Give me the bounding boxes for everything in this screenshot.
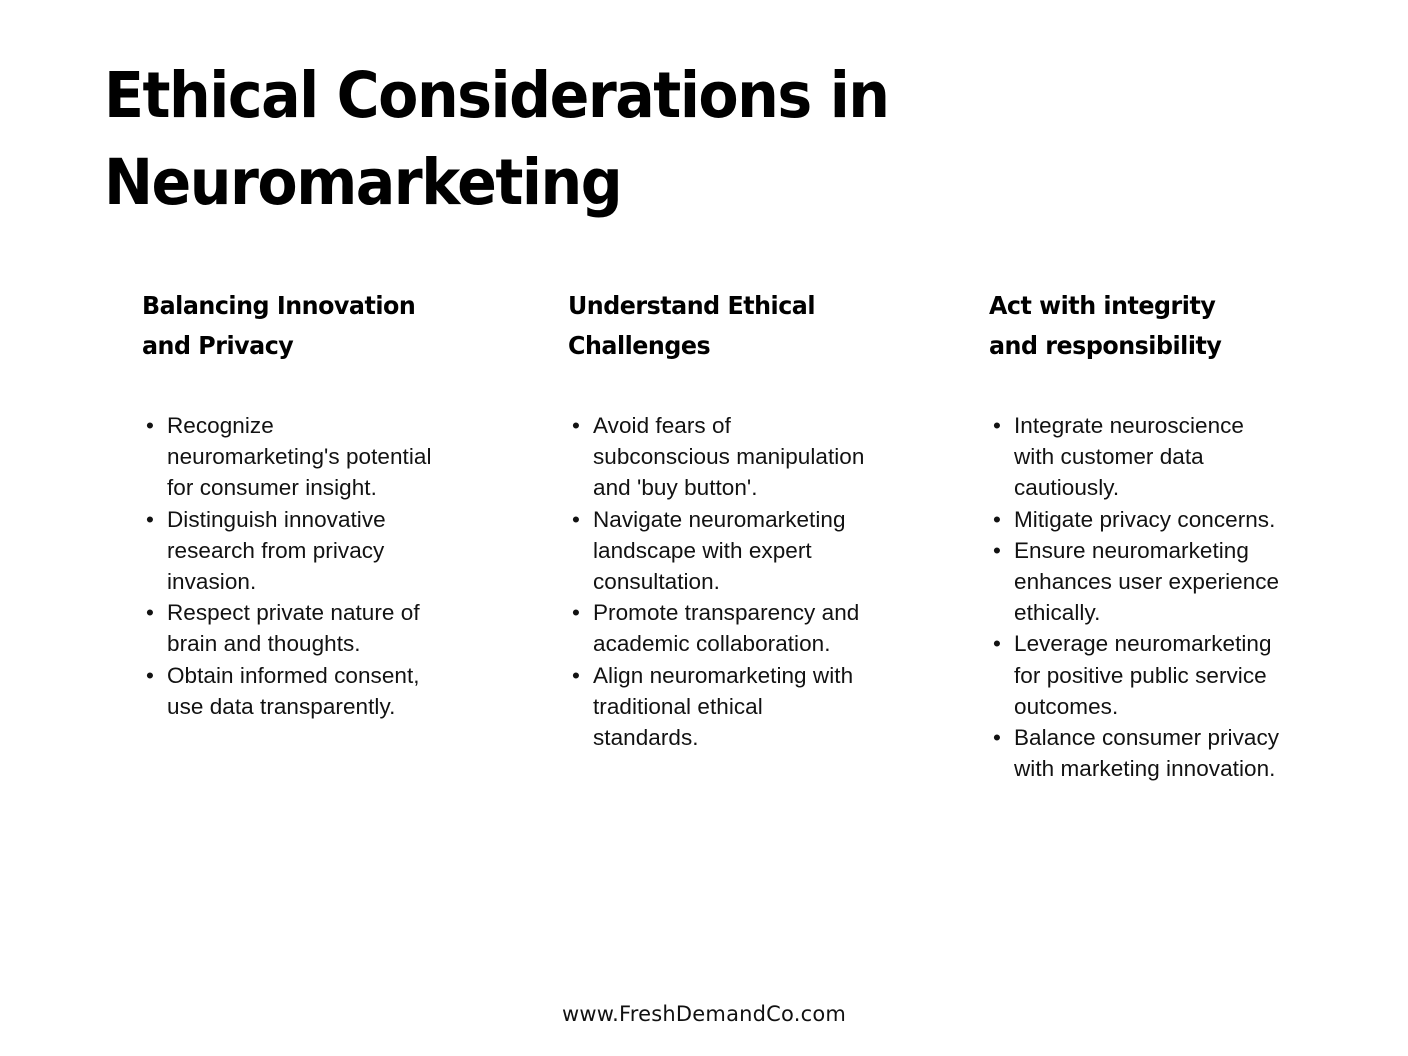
footer: www.FreshDemandCo.com bbox=[0, 1002, 1408, 1026]
bullet-dot-icon: • bbox=[993, 535, 1001, 566]
bullet-dot-icon: • bbox=[993, 628, 1001, 659]
bullet-dot-icon: • bbox=[572, 504, 580, 535]
list-item: • Balance consumer privacy with marketin… bbox=[989, 722, 1289, 784]
list-item-text: Leverage neuromarketing for positive pub… bbox=[1014, 631, 1272, 718]
bullet-list: • Integrate neuroscience with customer d… bbox=[989, 410, 1289, 784]
column-balancing-innovation-and-privacy: Balancing Innovation and Privacy • Recog… bbox=[104, 286, 530, 722]
bullet-dot-icon: • bbox=[146, 597, 154, 628]
column-heading: Act with integrity and responsibility bbox=[989, 286, 1298, 366]
list-item: • Distinguish innovative research from p… bbox=[142, 504, 442, 598]
bullet-dot-icon: • bbox=[146, 660, 154, 691]
column-heading: Balancing Innovation and Privacy bbox=[142, 286, 456, 366]
list-item: • Ensure neuromarketing enhances user ex… bbox=[989, 535, 1289, 629]
content-columns: Balancing Innovation and Privacy • Recog… bbox=[104, 286, 1314, 784]
list-item-text: Ensure neuromarketing enhances user expe… bbox=[1014, 538, 1279, 625]
list-item-text: Integrate neuroscience with customer dat… bbox=[1014, 413, 1244, 500]
bullet-dot-icon: • bbox=[146, 504, 154, 535]
page-title: Ethical Considerations in Neuromarketing bbox=[104, 52, 941, 226]
list-item: • Leverage neuromarketing for positive p… bbox=[989, 628, 1289, 722]
list-item: • Promote transparency and academic coll… bbox=[568, 597, 868, 659]
slide-canvas: Ethical Considerations in Neuromarketing… bbox=[0, 0, 1408, 1056]
list-item-text: Distinguish innovative research from pri… bbox=[167, 507, 386, 594]
column-heading: Understand Ethical Challenges bbox=[568, 286, 882, 366]
bullet-dot-icon: • bbox=[993, 504, 1001, 535]
list-item: • Avoid fears of subconscious manipulati… bbox=[568, 410, 868, 504]
bullet-dot-icon: • bbox=[572, 597, 580, 628]
list-item: • Integrate neuroscience with customer d… bbox=[989, 410, 1289, 504]
bullet-list: • Recognize neuromarketing's potential f… bbox=[142, 410, 442, 722]
list-item-text: Navigate neuromarketing landscape with e… bbox=[593, 507, 846, 594]
bullet-dot-icon: • bbox=[993, 722, 1001, 753]
list-item-text: Mitigate privacy concerns. bbox=[1014, 507, 1275, 532]
column-act-with-integrity-and-responsibility: Act with integrity and responsibility • … bbox=[956, 286, 1314, 784]
list-item-text: Recognize neuromarketing's potential for… bbox=[167, 413, 432, 500]
title-block: Ethical Considerations in Neuromarketing bbox=[104, 52, 1004, 226]
list-item: • Align neuromarketing with traditional … bbox=[568, 660, 868, 754]
list-item-text: Obtain informed consent, use data transp… bbox=[167, 663, 420, 719]
list-item-text: Balance consumer privacy with marketing … bbox=[1014, 725, 1279, 781]
list-item: • Recognize neuromarketing's potential f… bbox=[142, 410, 442, 504]
footer-website-url: www.FreshDemandCo.com bbox=[562, 1002, 846, 1026]
list-item-text: Respect private nature of brain and thou… bbox=[167, 600, 420, 656]
list-item: • Mitigate privacy concerns. bbox=[989, 504, 1289, 535]
list-item-text: Promote transparency and academic collab… bbox=[593, 600, 859, 656]
list-item-text: Avoid fears of subconscious manipulation… bbox=[593, 413, 864, 500]
list-item: • Obtain informed consent, use data tran… bbox=[142, 660, 442, 722]
bullet-dot-icon: • bbox=[572, 410, 580, 441]
bullet-dot-icon: • bbox=[572, 660, 580, 691]
bullet-dot-icon: • bbox=[146, 410, 154, 441]
list-item-text: Align neuromarketing with traditional et… bbox=[593, 663, 853, 750]
bullet-dot-icon: • bbox=[993, 410, 1001, 441]
list-item: • Respect private nature of brain and th… bbox=[142, 597, 442, 659]
list-item: • Navigate neuromarketing landscape with… bbox=[568, 504, 868, 598]
bullet-list: • Avoid fears of subconscious manipulati… bbox=[568, 410, 868, 753]
column-understand-ethical-challenges: Understand Ethical Challenges • Avoid fe… bbox=[530, 286, 956, 753]
